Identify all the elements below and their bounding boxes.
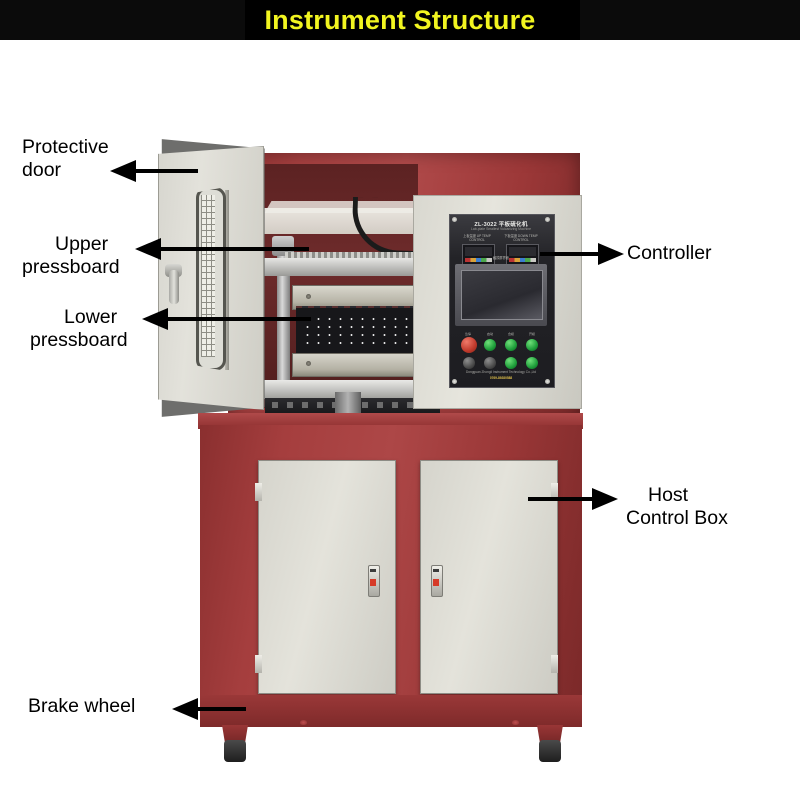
protective-door-handle[interactable] bbox=[169, 270, 179, 304]
annotation-brake-wheel: Brake wheel bbox=[28, 695, 135, 718]
cabinet-door-left-hinge-bottom bbox=[255, 655, 262, 673]
close-mould-button[interactable] bbox=[505, 339, 517, 351]
page-title: Instrument Structure bbox=[0, 0, 800, 40]
annotation-host-control-box-line1: Host bbox=[648, 484, 688, 507]
arrow-head-host-control-box bbox=[592, 488, 618, 510]
arrow-head-brake-wheel bbox=[172, 698, 198, 720]
cabinet-door-left-latch-bar bbox=[370, 569, 376, 572]
exhaust-button[interactable] bbox=[484, 357, 496, 369]
hmi-touchscreen[interactable] bbox=[461, 270, 543, 320]
button-label-start: 启动 bbox=[480, 332, 500, 336]
annotation-protective-door-line2: door bbox=[22, 159, 61, 182]
emergency-stop-button[interactable] bbox=[461, 337, 477, 353]
protective-door-mesh bbox=[201, 195, 215, 357]
arrow-line-controller bbox=[540, 252, 602, 256]
cabinet-door-right-hinge-bottom bbox=[551, 655, 558, 673]
arrow-line-host-control-box bbox=[528, 497, 594, 501]
plinth-bolt-right bbox=[512, 720, 519, 725]
annotation-upper-pressboard-line2: pressboard bbox=[22, 256, 120, 279]
heating-button[interactable] bbox=[505, 357, 517, 369]
arrow-line-brake-wheel bbox=[198, 707, 246, 711]
title-bar: Instrument Structure bbox=[0, 0, 800, 40]
plinth-bolt-left bbox=[300, 720, 307, 725]
instrument-photo: ZL-3022 平板硫化机 Lab-plate Smallest Vulcani… bbox=[0, 40, 800, 800]
annotation-controller: Controller bbox=[627, 242, 712, 265]
lower-pressboard-screw-left bbox=[306, 361, 311, 366]
arrow-line-upper-pressboard bbox=[161, 247, 309, 251]
arrow-line-protective-door bbox=[136, 169, 198, 173]
vacuum-button[interactable] bbox=[463, 357, 475, 369]
cabinet-door-left-hinge-top bbox=[255, 483, 262, 501]
arrow-head-upper-pressboard bbox=[135, 238, 161, 260]
start-button[interactable] bbox=[484, 339, 496, 351]
cabinet-door-right-latch-bar bbox=[433, 569, 439, 572]
cabinet-door-right-latch-indicator bbox=[433, 579, 439, 586]
arrow-head-protective-door bbox=[110, 160, 136, 182]
controller-footer-company: Dongguan Zhongli Instrument Technology C… bbox=[452, 370, 550, 375]
button-label-close-mould: 合模 bbox=[501, 332, 521, 336]
controller-model-subtitle: Lab-plate Smallest Vulcanizing Machine bbox=[452, 227, 550, 231]
cabinet-plinth bbox=[200, 695, 582, 727]
upper-temp-meter-label: 上板温度 UP TEMP CONTROL bbox=[456, 234, 498, 243]
open-mould-button[interactable] bbox=[526, 339, 538, 351]
hmi-label: 触摸屏界面 bbox=[480, 256, 522, 260]
upper-pressboard-screw-left bbox=[306, 294, 311, 299]
brake-wheel-right[interactable] bbox=[539, 740, 561, 762]
button-label-emergency-stop: 急停 bbox=[458, 332, 478, 336]
annotation-lower-pressboard-line2: pressboard bbox=[30, 329, 128, 352]
annotation-upper-pressboard-line1: Upper bbox=[55, 233, 108, 256]
arrow-head-controller bbox=[598, 243, 624, 265]
controller-footer-phone: 0769-89280588 bbox=[452, 376, 550, 381]
button-label-open-mould: 开模 bbox=[522, 332, 542, 336]
arrow-line-lower-pressboard bbox=[168, 317, 311, 321]
lower-temp-meter-label: 下板温度 DOWN TEMP CONTROL bbox=[500, 234, 542, 243]
reset-button[interactable] bbox=[526, 357, 538, 369]
arrow-head-lower-pressboard bbox=[142, 308, 168, 330]
cabinet-door-left-latch-indicator bbox=[370, 579, 376, 586]
annotation-host-control-box-line2: Control Box bbox=[626, 507, 728, 530]
annotation-lower-pressboard-line1: Lower bbox=[64, 306, 117, 329]
brake-wheel-left[interactable] bbox=[224, 740, 246, 762]
upper-temp-display bbox=[465, 247, 492, 256]
lower-temp-display bbox=[509, 247, 536, 256]
annotation-protective-door-line1: Protective bbox=[22, 136, 109, 159]
